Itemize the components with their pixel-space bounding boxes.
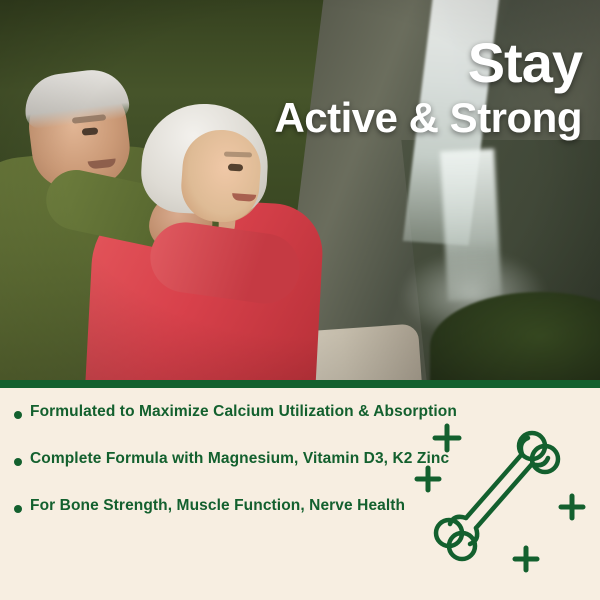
bullet-dot-icon <box>14 411 22 419</box>
list-item: Complete Formula with Magnesium, Vitamin… <box>10 449 480 470</box>
woman-eyebrow <box>224 152 252 158</box>
headline-line-1: Stay <box>274 36 582 91</box>
bone-graphic <box>414 406 594 586</box>
benefit-text: Formulated to Maximize Calcium Utilizati… <box>30 402 457 423</box>
benefit-text: Complete Formula with Magnesium, Vitamin… <box>30 449 449 470</box>
plus-icon <box>435 426 459 450</box>
benefits-panel: Formulated to Maximize Calcium Utilizati… <box>0 388 600 600</box>
plus-icon <box>561 496 583 518</box>
supplement-ad-banner: Stay Active & Strong Formulated to Maxim… <box>0 0 600 600</box>
list-item: For Bone Strength, Muscle Function, Nerv… <box>10 496 480 517</box>
headline: Stay Active & Strong <box>274 36 582 138</box>
benefits-list: Formulated to Maximize Calcium Utilizati… <box>10 402 480 543</box>
headline-line-2: Active & Strong <box>274 97 582 138</box>
bone-join-top <box>521 438 528 454</box>
green-divider <box>0 380 600 388</box>
plus-icon <box>515 548 537 570</box>
plus-icon <box>417 468 439 490</box>
bullet-dot-icon <box>14 505 22 513</box>
list-item: Formulated to Maximize Calcium Utilizati… <box>10 402 480 423</box>
bullet-dot-icon <box>14 458 22 466</box>
woman-eye <box>228 164 243 172</box>
benefit-text: For Bone Strength, Muscle Function, Nerv… <box>30 496 405 517</box>
